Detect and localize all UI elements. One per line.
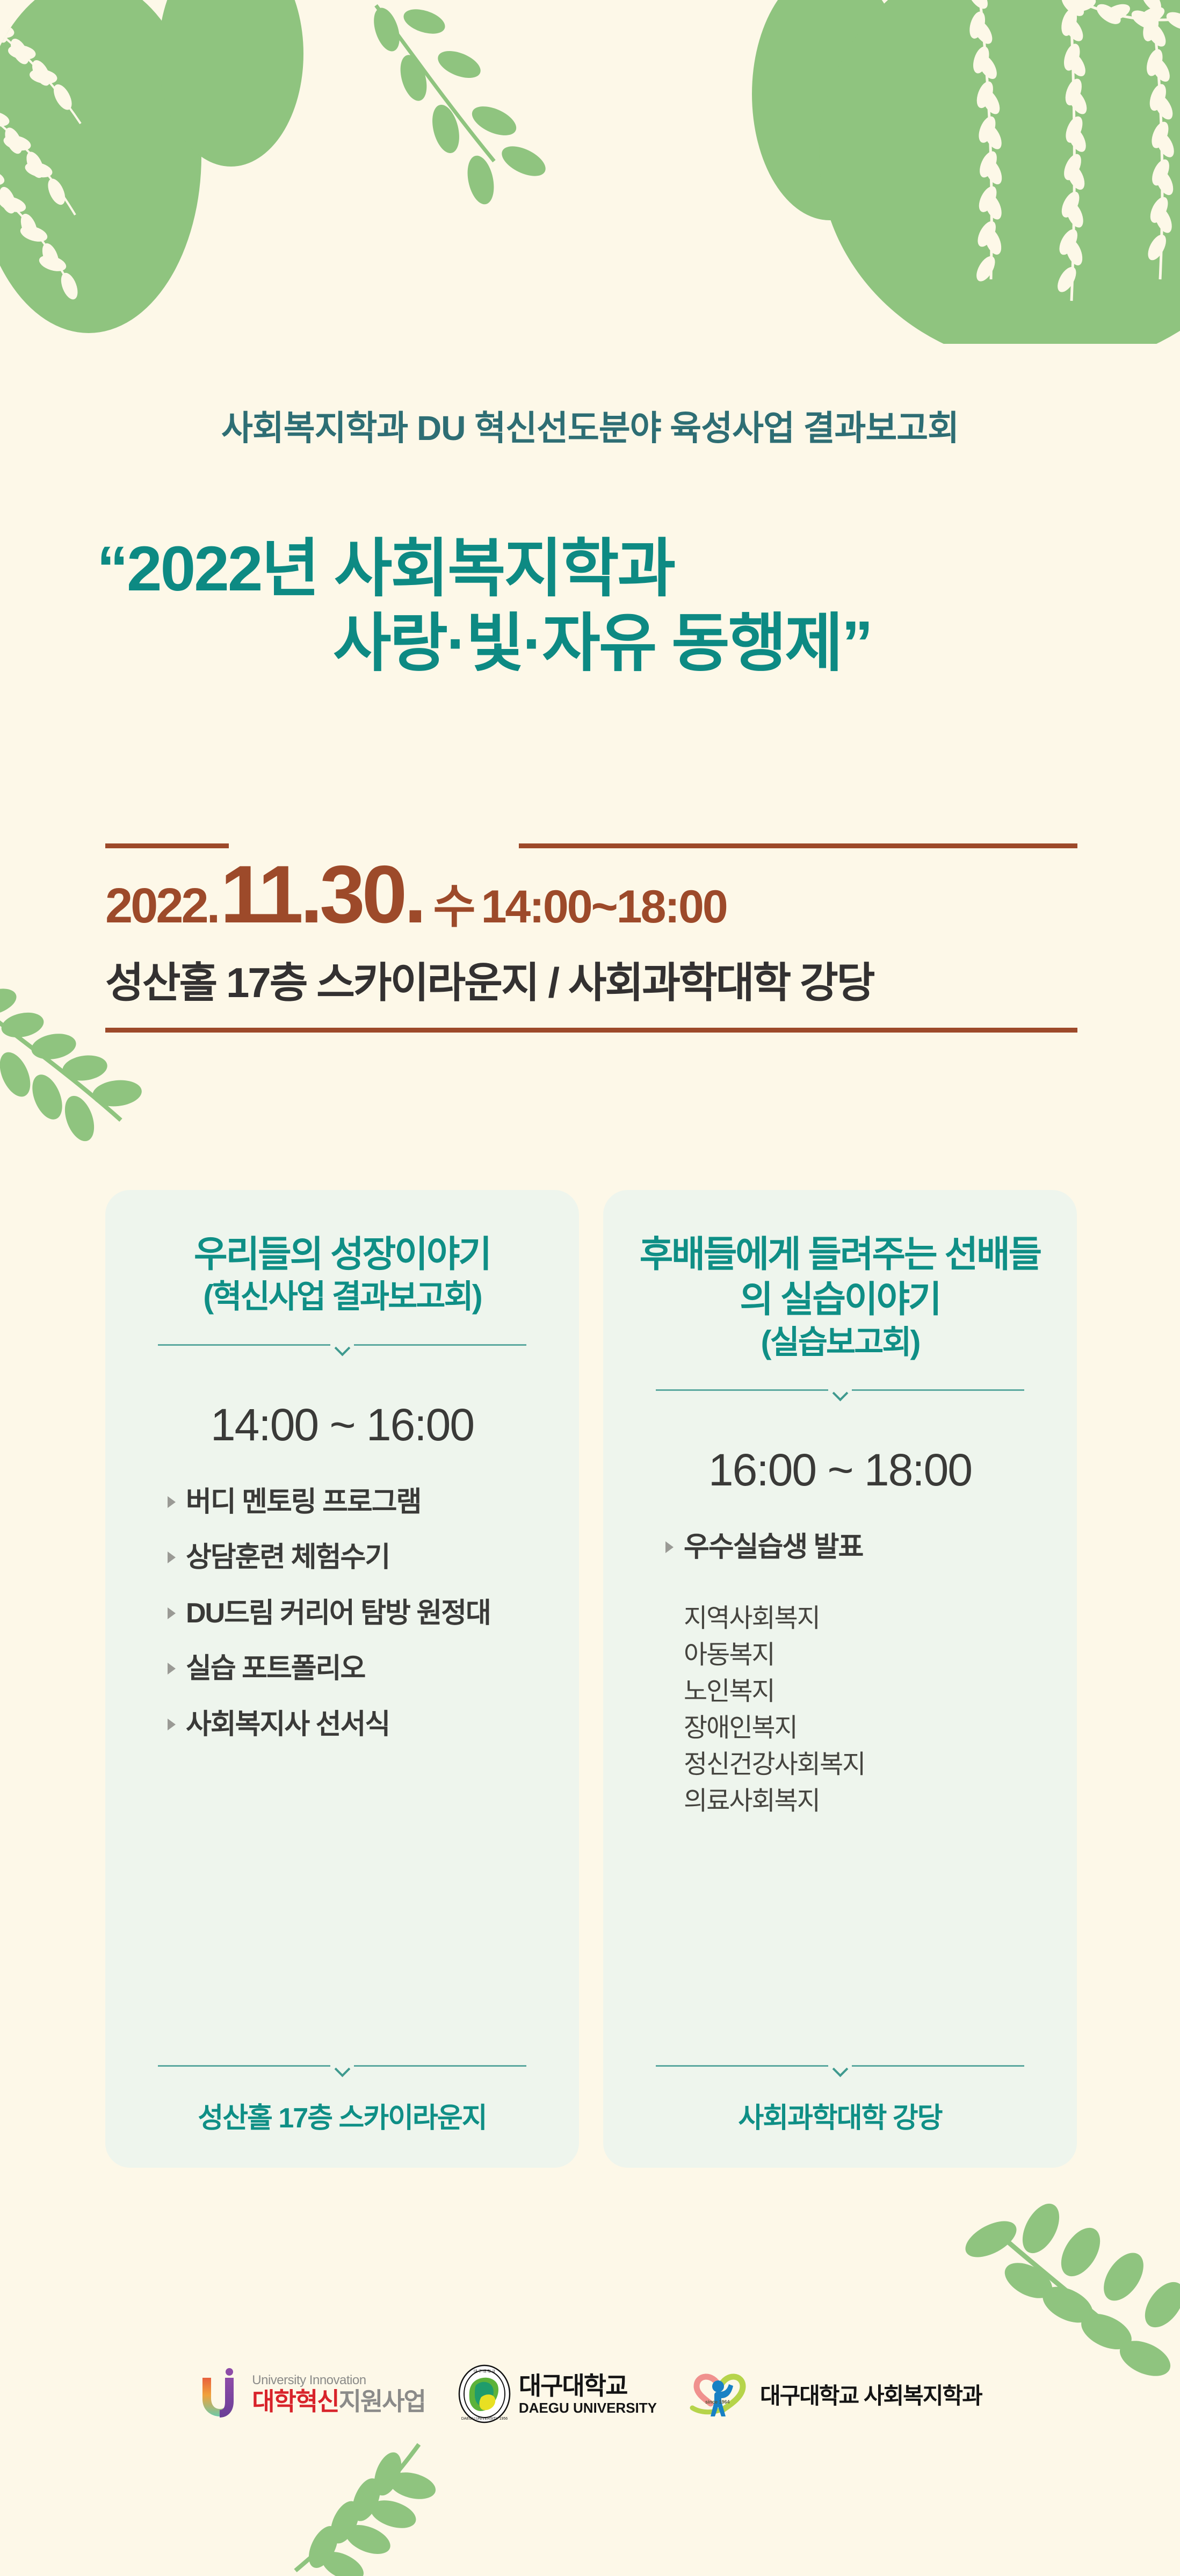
date-day: 11.30. [220, 854, 423, 935]
list-item: 상담훈련 체험수기 [168, 1540, 554, 1576]
sub-list-item: 정신건강사회복지 [684, 1747, 1052, 1783]
card-program-list: 버디 멘토링 프로그램 상담훈련 체험수기 DU드림 커리어 탐방 원정대 실습… [130, 1484, 554, 1763]
logo-daegu-university: 대 구 대 학 교 DAEGU UNIVERSITY 1956 대구대학교 DA… [458, 2364, 657, 2424]
bottom-right-sprig-decoration [913, 2170, 1180, 2396]
date-rule-right [519, 843, 1077, 848]
list-item: 사회복지사 선서식 [168, 1707, 554, 1743]
heart-person-icon: since 1964 [689, 2368, 752, 2420]
program-card-practicum-story[interactable]: 후배들에게 들려주는 선배들의 실습이야기 (실습보고회) 16:00 ~ 18… [603, 1190, 1077, 2168]
sub-list-item: 의료사회복지 [684, 1783, 1052, 1820]
ui-mark-icon [198, 2368, 244, 2420]
chevron-down-icon [828, 1387, 852, 1401]
date-top-rules [105, 843, 1077, 848]
card-time: 14:00 ~ 16:00 [130, 1399, 554, 1451]
list-item: DU드림 커리어 탐방 원정대 [168, 1596, 554, 1632]
card-location: 성산홀 17층 스카이라운지 [130, 2095, 554, 2135]
daegu-university-seal-icon: 대 구 대 학 교 DAEGU UNIVERSITY 1956 [458, 2364, 511, 2424]
card-footer-divider [158, 2061, 526, 2079]
program-card-growth-story[interactable]: 우리들의 성장이야기 (혁신사업 결과보고회) 14:00 ~ 16:00 버디… [105, 1190, 579, 2168]
svg-text:DAEGU UNIVERSITY 1956: DAEGU UNIVERSITY 1956 [461, 2417, 508, 2421]
sub-list-item: 노인복지 [684, 1673, 1052, 1710]
card-program-list: 우수실습생 발표 [628, 1529, 1052, 1585]
sub-list-item: 지역사회복지 [684, 1600, 1052, 1637]
ui-logo-en: University Innovation [252, 2374, 425, 2387]
card-title: 후배들에게 들려주는 선배들의 실습이야기 [628, 1232, 1052, 1323]
sub-list-item: 아동복지 [684, 1637, 1052, 1673]
ui-logo-kr-gray: 지원사업 [339, 2387, 425, 2415]
top-foliage-decoration [0, 0, 1180, 344]
list-item: 우수실습생 발표 [665, 1529, 1052, 1566]
card-program-sublist: 지역사회복지 아동복지 노인복지 장애인복지 정신건강사회복지 의료사회복지 [628, 1600, 1052, 1820]
logo-university-innovation: University Innovation 대학혁신지원사업 [198, 2368, 425, 2420]
daegu-university-en: DAEGU UNIVERSITY [519, 2401, 657, 2415]
footer-logo-row: University Innovation 대학혁신지원사업 대 구 대 학 교… [0, 2364, 1180, 2424]
svg-text:대 구 대 학 교: 대 구 대 학 교 [474, 2369, 496, 2373]
daegu-university-text: 대구대학교 DAEGU UNIVERSITY [519, 2373, 657, 2415]
svg-text:since 1964: since 1964 [705, 2399, 730, 2405]
ui-logo-text: University Innovation 대학혁신지원사업 [252, 2374, 425, 2414]
card-title: 우리들의 성장이야기 [130, 1232, 554, 1277]
event-kicker: 사회복지학과 DU 혁신선도분야 육성사업 결과보고회 [0, 401, 1180, 450]
date-line: 2022. 11.30. 수 14:00~18:00 [105, 854, 1077, 935]
bottom-centre-sprig-decoration [242, 2442, 575, 2576]
list-item: 실습 포트폴리오 [168, 1651, 554, 1687]
program-cards: 우리들의 성장이야기 (혁신사업 결과보고회) 14:00 ~ 16:00 버디… [105, 1190, 1077, 2168]
list-item: 버디 멘토링 프로그램 [168, 1484, 554, 1521]
daegu-university-kr: 대구대학교 [519, 2373, 657, 2398]
card-time: 16:00 ~ 18:00 [628, 1444, 1052, 1496]
card-spacer [130, 1763, 554, 2038]
card-footer-divider [656, 2061, 1024, 2079]
card-subtitle: (혁신사업 결과보고회) [130, 1277, 554, 1317]
date-rule-bottom [105, 1028, 1077, 1033]
card-subtitle: (실습보고회) [628, 1323, 1052, 1362]
card-divider [656, 1385, 1024, 1403]
venue-line: 성산홀 17층 스카이라운지 / 사회과학대학 강당 [105, 949, 1077, 1009]
sub-list-item: 장애인복지 [684, 1710, 1052, 1747]
card-location: 사회과학대학 강당 [628, 2095, 1052, 2135]
date-venue-block: 2022. 11.30. 수 14:00~18:00 성산홀 17층 스카이라운… [105, 843, 1077, 1033]
card-spacer [628, 1820, 1052, 2038]
chevron-down-icon [330, 1341, 354, 1355]
ui-logo-kr: 대학혁신지원사업 [252, 2389, 425, 2414]
headline-line-2: 사랑·빛·자유 동행제” [0, 607, 1180, 681]
headline-line-1: “2022년 사회복지학과 [0, 532, 1180, 607]
event-headline: “2022년 사회복지학과 사랑·빛·자유 동행제” [0, 532, 1180, 681]
card-divider [158, 1340, 526, 1358]
date-rule-left [105, 843, 229, 848]
logo-social-welfare-department: since 1964 대구대학교 사회복지학과 [689, 2368, 982, 2420]
date-time: 14:00~18:00 [481, 884, 727, 930]
poster-canvas: 사회복지학과 DU 혁신선도분야 육성사업 결과보고회 “2022년 사회복지학… [0, 0, 1180, 2576]
ui-logo-kr-red: 대학혁신 [252, 2387, 338, 2415]
chevron-down-icon [330, 2062, 354, 2076]
date-weekday: 수 [433, 884, 474, 930]
social-welfare-department-label: 대구대학교 사회복지학과 [760, 2378, 982, 2411]
date-year: 2022. [105, 881, 218, 930]
chevron-down-icon [828, 2062, 852, 2076]
